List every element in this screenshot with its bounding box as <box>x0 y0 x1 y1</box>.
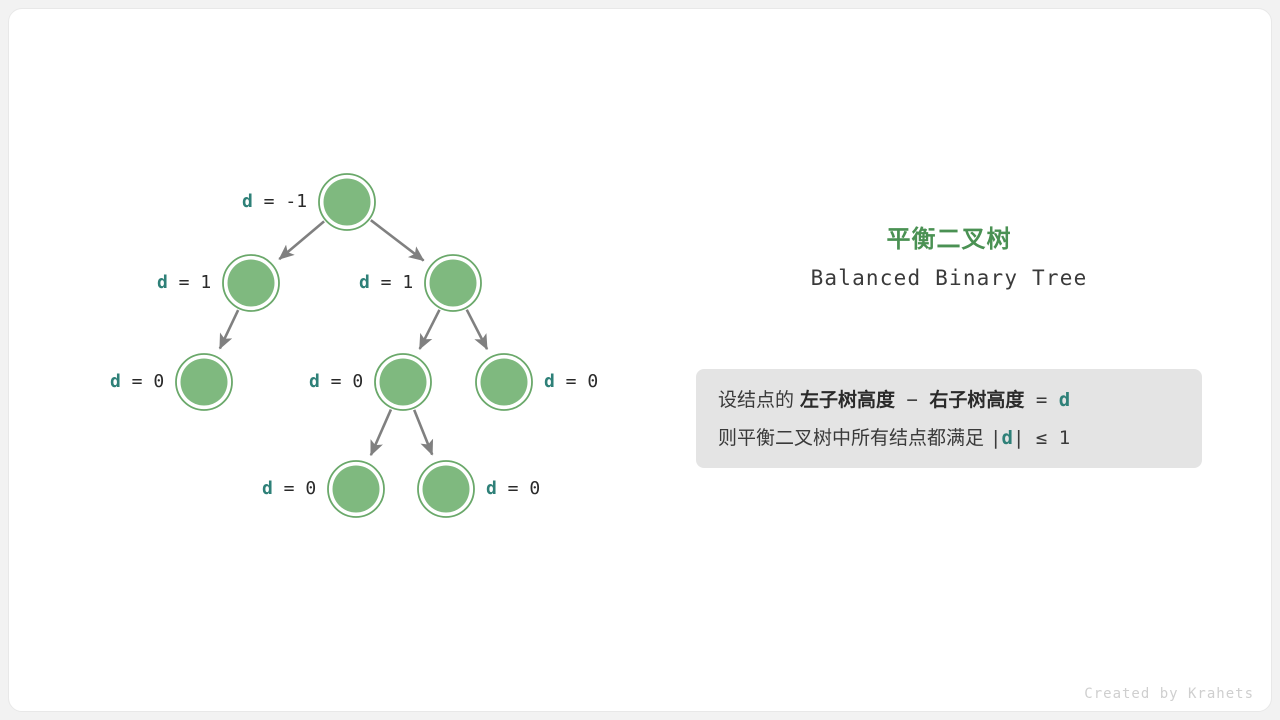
callout-bold-left-subtree-height: 左子树高度 <box>800 389 895 411</box>
node-d-variable: d <box>486 478 497 499</box>
node-depth-label: d = -1 <box>242 191 307 212</box>
callout-relation: ≤ 1 <box>1024 427 1070 449</box>
tree-node <box>319 174 375 230</box>
abs-bar-close-icon: | <box>1013 427 1024 449</box>
tree-node-fill <box>380 359 427 406</box>
node-d-value: = 0 <box>497 478 540 499</box>
node-d-variable: d <box>110 371 121 392</box>
node-d-value: = 1 <box>370 272 413 293</box>
tree-edge <box>220 310 238 348</box>
tree-node <box>328 461 384 517</box>
tree-edge <box>279 221 324 259</box>
node-depth-label: d = 0 <box>309 371 363 392</box>
tree-edge <box>371 220 424 260</box>
tree-nodes <box>176 174 532 517</box>
tree-node-fill <box>481 359 528 406</box>
tree-node-fill <box>228 260 275 307</box>
node-depth-label: d = 1 <box>359 272 413 293</box>
tree-node-fill <box>324 179 371 226</box>
figure-canvas: d = -1d = 1d = 1d = 0d = 0d = 0d = 0d = … <box>0 0 1280 720</box>
node-d-variable: d <box>309 371 320 392</box>
node-d-variable: d <box>157 272 168 293</box>
callout-minus: − <box>895 389 929 411</box>
tree-node-fill <box>181 359 228 406</box>
node-d-variable: d <box>242 191 253 212</box>
node-depth-label: d = 0 <box>486 478 540 499</box>
callout-prefix-2: 则平衡二叉树中所有结点都满足 <box>718 427 990 449</box>
callout-d-variable-1: d <box>1059 389 1070 411</box>
node-depth-label: d = 1 <box>157 272 211 293</box>
node-d-variable: d <box>544 371 555 392</box>
node-depth-label: d = 0 <box>262 478 316 499</box>
tree-edge <box>467 310 487 349</box>
tree-node <box>425 255 481 311</box>
callout-equals: = <box>1024 389 1058 411</box>
tree-edge <box>414 410 432 455</box>
credit-text: Created by Krahets <box>1084 686 1254 702</box>
callout-line-2: 则平衡二叉树中所有结点都满足 |d| ≤ 1 <box>696 419 1202 457</box>
tree-node <box>223 255 279 311</box>
page-subtitle: Balanced Binary Tree <box>696 262 1202 294</box>
tree-edge <box>371 409 391 455</box>
callout-prefix-1: 设结点的 <box>718 389 800 411</box>
callout-d-variable-2: d <box>1002 427 1013 449</box>
tree-node <box>375 354 431 410</box>
binary-tree-diagram <box>0 0 1280 720</box>
page-title: 平衡二叉树 <box>696 222 1202 256</box>
node-d-value: = 0 <box>320 371 363 392</box>
tree-node <box>176 354 232 410</box>
node-d-variable: d <box>359 272 370 293</box>
node-d-value: = 0 <box>273 478 316 499</box>
title-panel: 平衡二叉树 Balanced Binary Tree <box>696 222 1202 294</box>
callout-line-1: 设结点的 左子树高度 − 右子树高度 = d <box>696 381 1202 419</box>
definition-callout: 设结点的 左子树高度 − 右子树高度 = d 则平衡二叉树中所有结点都满足 |d… <box>696 369 1202 468</box>
tree-node <box>476 354 532 410</box>
tree-node <box>418 461 474 517</box>
abs-bar-open-icon: | <box>990 427 1001 449</box>
node-d-value: = 0 <box>121 371 164 392</box>
tree-node-fill <box>430 260 477 307</box>
callout-bold-right-subtree-height: 右子树高度 <box>929 389 1024 411</box>
node-d-variable: d <box>262 478 273 499</box>
node-d-value: = 0 <box>555 371 598 392</box>
node-d-value: = 1 <box>168 272 211 293</box>
node-d-value: = -1 <box>253 191 307 212</box>
tree-edge <box>420 310 440 349</box>
tree-node-fill <box>333 466 380 513</box>
tree-node-fill <box>423 466 470 513</box>
node-depth-label: d = 0 <box>544 371 598 392</box>
node-depth-label: d = 0 <box>110 371 164 392</box>
